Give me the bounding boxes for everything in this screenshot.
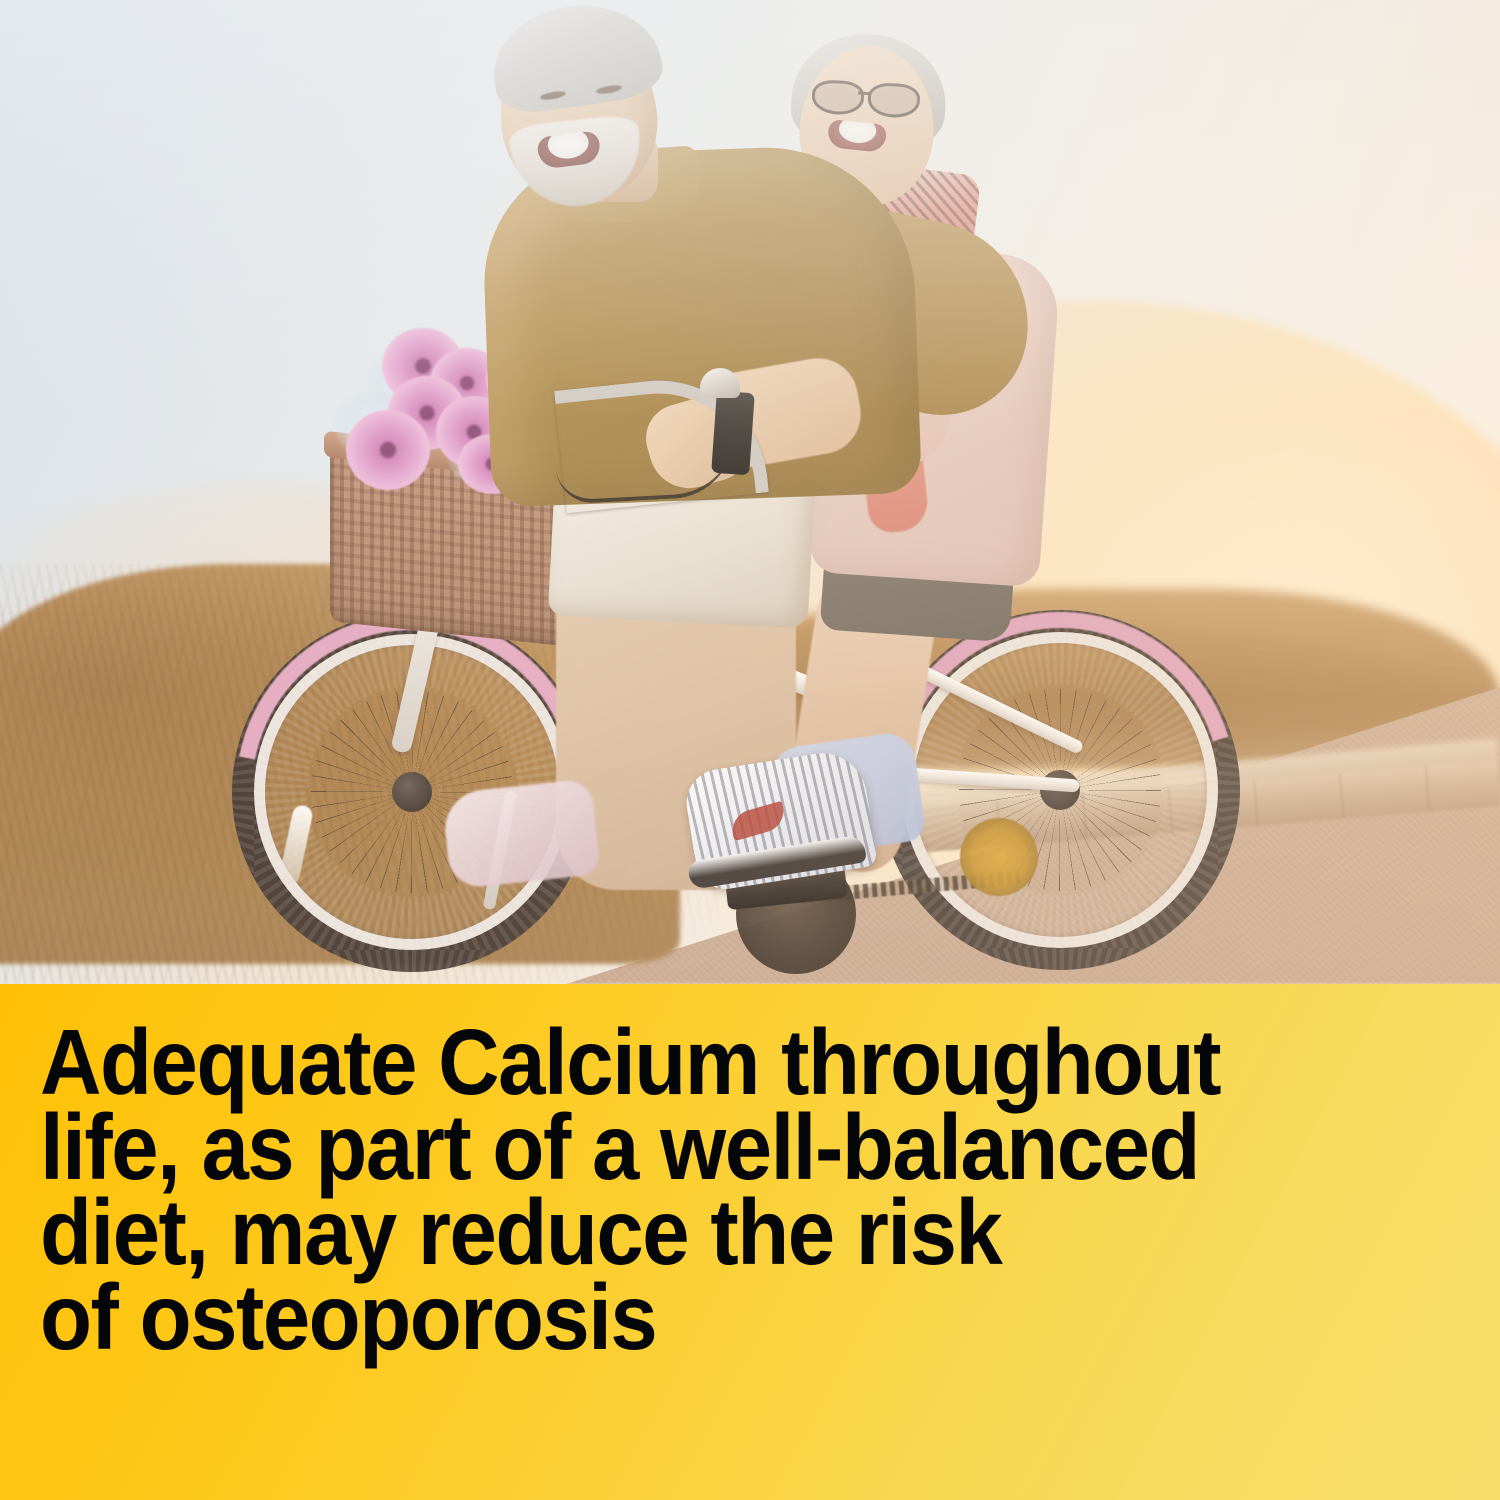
hero-photo <box>0 0 1500 984</box>
calcium-osteoporosis-poster: Adequate Calcium throughout life, as par… <box>0 0 1500 1500</box>
rear-shoe <box>441 778 600 889</box>
caption-banner: Adequate Calcium throughout life, as par… <box>0 984 1500 1500</box>
handlebar-stem <box>711 391 755 475</box>
sunglasses-icon <box>811 79 922 115</box>
caption-text: Adequate Calcium throughout life, as par… <box>40 1020 1348 1360</box>
